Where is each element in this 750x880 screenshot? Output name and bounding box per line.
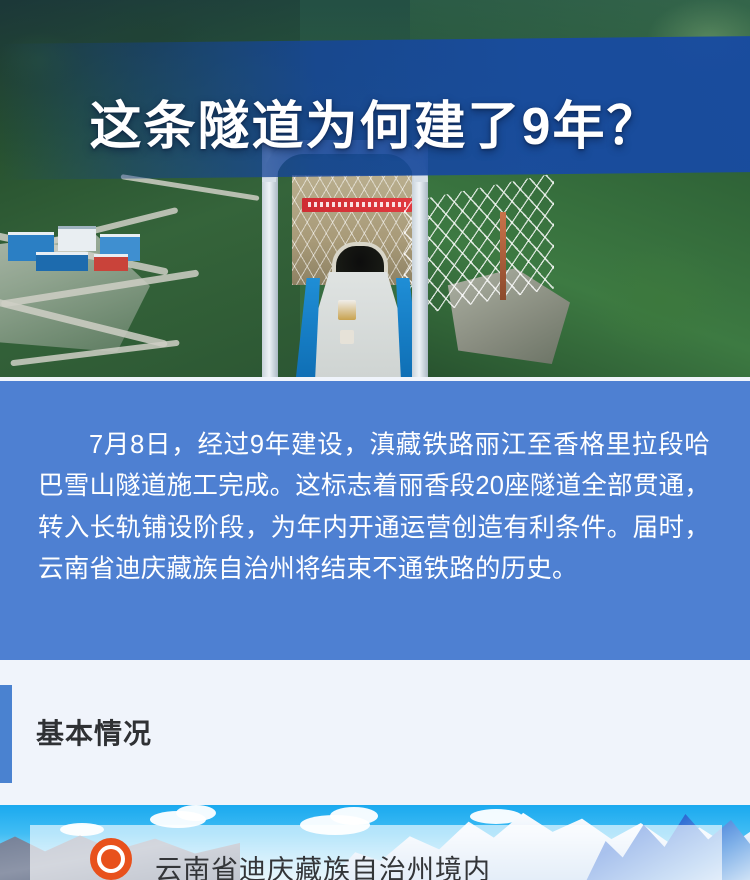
bottom-item-label: 云南省迪庆藏族自治州境内 <box>155 848 491 880</box>
target-circle-icon <box>90 838 132 880</box>
section-accent-bar <box>0 685 12 783</box>
intro-panel: 7月8日，经过9年建设，滇藏铁路丽江至香格里拉段哈巴雪山隧道施工完成。这标志着丽… <box>0 381 750 660</box>
target-center-dot <box>101 849 121 869</box>
page-title: 这条隧道为何建了9年？ <box>0 84 750 159</box>
section-heading-block: 基本情况 <box>0 660 750 805</box>
cloud <box>176 805 216 821</box>
hero-section: 这条隧道为何建了9年？ <box>0 0 750 377</box>
cloud <box>330 807 378 825</box>
infographic-page: 这条隧道为何建了9年？ 7月8日，经过9年建设，滇藏铁路丽江至香格里拉段哈巴雪山… <box>0 0 750 880</box>
hero-photo <box>0 0 750 377</box>
section-title: 基本情况 <box>36 712 152 752</box>
intro-paragraph: 7月8日，经过9年建设，滇藏铁路丽江至香格里拉段哈巴雪山隧道施工完成。这标志着丽… <box>38 425 710 590</box>
